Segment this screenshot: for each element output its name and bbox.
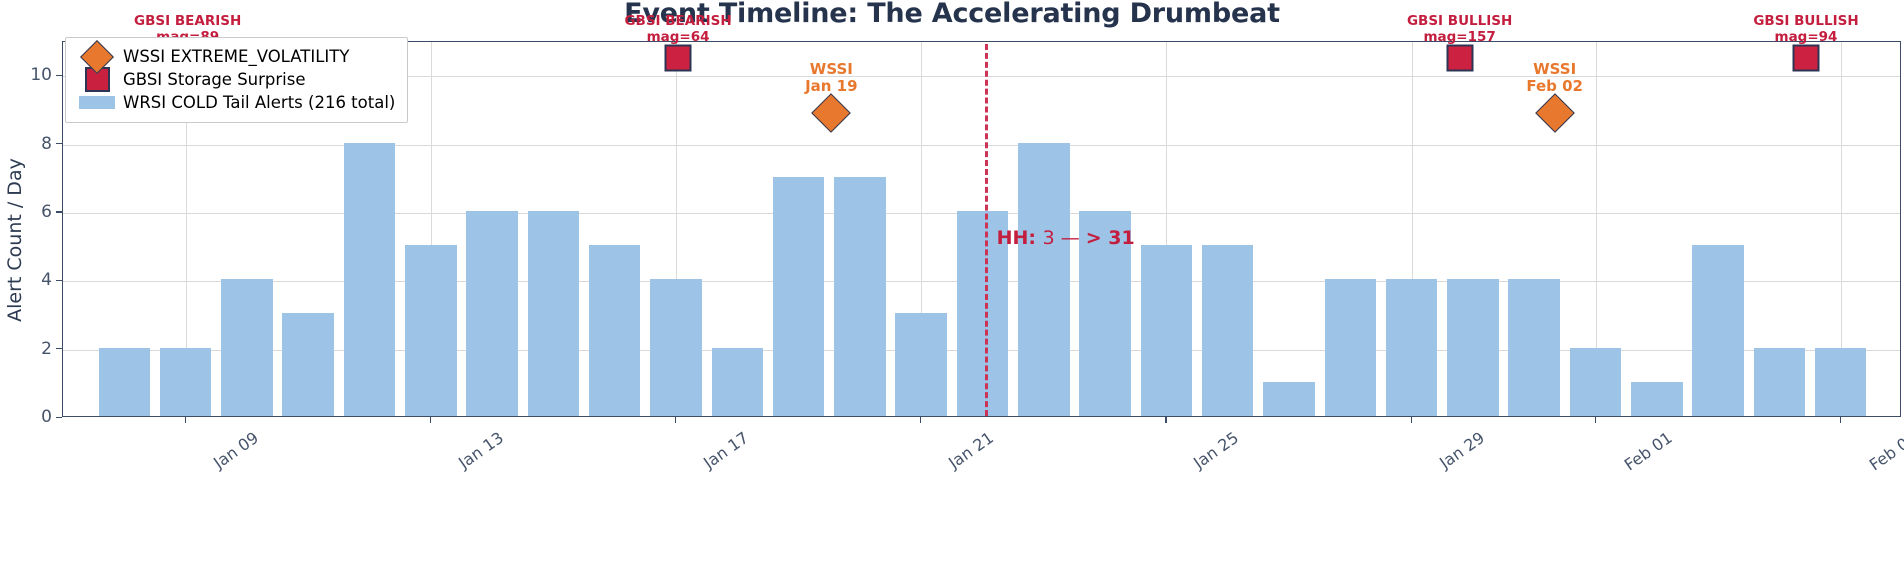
gbsi-event-label: GBSI BULLISH mag=157 [1407,14,1512,46]
bar[interactable] [1508,279,1559,416]
bar[interactable] [99,348,150,416]
bar[interactable] [895,313,946,416]
y-tick-label: 4 [41,270,52,290]
gridline-horizontal [63,145,1900,146]
bar[interactable] [528,211,579,416]
wssi-event-label: WSSI Jan 19 [805,61,857,96]
legend-label: WRSI COLD Tail Alerts (216 total) [123,93,395,112]
bar[interactable] [773,177,824,416]
bar[interactable] [589,245,640,416]
bar[interactable] [650,279,701,416]
y-tick-label: 6 [41,202,52,222]
bar[interactable] [1692,245,1743,416]
bar[interactable] [405,245,456,416]
x-tick-label: Jan 17 [700,428,752,472]
bar[interactable] [1570,348,1621,416]
y-tick-label: 2 [41,339,52,359]
x-tick-mark [185,417,186,423]
x-tick-label: Jan 25 [1190,428,1242,472]
gbsi-event-marker[interactable] [1446,45,1473,72]
x-tick-label: Feb 05 [1865,428,1904,474]
x-tick-label: Jan 13 [455,428,507,472]
x-tick-mark [675,417,676,423]
bar[interactable] [712,348,763,416]
bar[interactable] [344,143,395,416]
bar[interactable] [1815,348,1866,416]
regime-change-annotation: HH: 3 — > 31 [997,227,1135,249]
chart-title: Event Timeline: The Accelerating Drumbea… [0,0,1904,29]
gbsi-event-marker[interactable] [665,45,692,72]
y-axis-label: Alert Count / Day [4,75,26,405]
wssi-event-label: WSSI Feb 02 [1526,61,1583,96]
x-tick-label: Jan 09 [210,428,262,472]
bar[interactable] [1754,348,1805,416]
y-axis: Alert Count / Day 0246810 [0,41,62,417]
chart-root: Event Timeline: The Accelerating Drumbea… [0,0,1904,584]
chart-legend[interactable]: WSSI EXTREME_VOLATILITY GBSI Storage Sur… [65,37,408,123]
bar[interactable] [1447,279,1498,416]
bar[interactable] [282,313,333,416]
legend-item-gbsi[interactable]: GBSI Storage Surprise [75,68,395,91]
bar[interactable] [1018,143,1069,416]
regime-change-line [985,44,988,416]
diamond-icon [75,45,119,69]
legend-label: WSSI EXTREME_VOLATILITY [123,47,349,66]
bar[interactable] [1325,279,1376,416]
gbsi-event-label: GBSI BEARISH mag=64 [624,14,731,46]
x-tick-mark [430,417,431,423]
bar[interactable] [1263,382,1314,416]
legend-item-wrsi[interactable]: WRSI COLD Tail Alerts (216 total) [75,91,395,114]
bar[interactable] [1386,279,1437,416]
legend-item-wssi[interactable]: WSSI EXTREME_VOLATILITY [75,45,395,68]
gbsi-event-label: GBSI BULLISH mag=94 [1753,14,1858,46]
x-tick-mark [1411,417,1412,423]
x-tick-label: Jan 29 [1436,428,1488,472]
bar[interactable] [221,279,272,416]
bar[interactable] [1202,245,1253,416]
bar[interactable] [160,348,211,416]
x-tick-label: Feb 01 [1620,428,1675,474]
x-tick-mark [1595,417,1596,423]
legend-label: GBSI Storage Surprise [123,70,306,89]
y-tick-label: 10 [30,65,52,85]
bar[interactable] [834,177,885,416]
y-tick-label: 8 [41,134,52,154]
x-tick-label: Jan 21 [945,428,997,472]
y-tick-label: 0 [41,407,52,427]
bar[interactable] [466,211,517,416]
bar[interactable] [1141,245,1192,416]
x-tick-mark [920,417,921,423]
bar-swatch-icon [75,96,119,109]
x-tick-mark [1165,417,1166,423]
gbsi-event-marker[interactable] [1792,45,1819,72]
x-tick-mark [1840,417,1841,423]
bar[interactable] [1631,382,1682,416]
